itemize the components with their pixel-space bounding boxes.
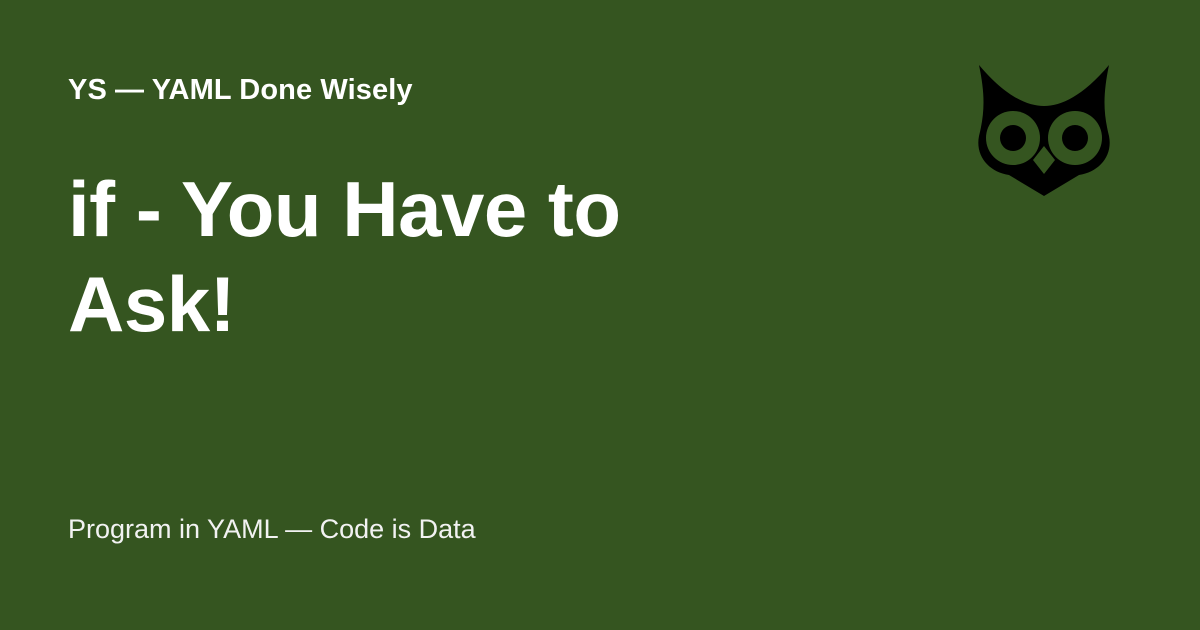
owl-logo — [975, 60, 1113, 196]
brand-label: YS — YAML Done Wisely — [68, 76, 413, 105]
page-title: if - You Have to Ask! — [68, 162, 728, 352]
footer-tagline: Program in YAML — Code is Data — [68, 513, 476, 545]
social-card: YS — YAML Done Wisely if - You Have to A… — [0, 0, 1200, 630]
brand-row: YS — YAML Done Wisely — [68, 66, 1040, 114]
